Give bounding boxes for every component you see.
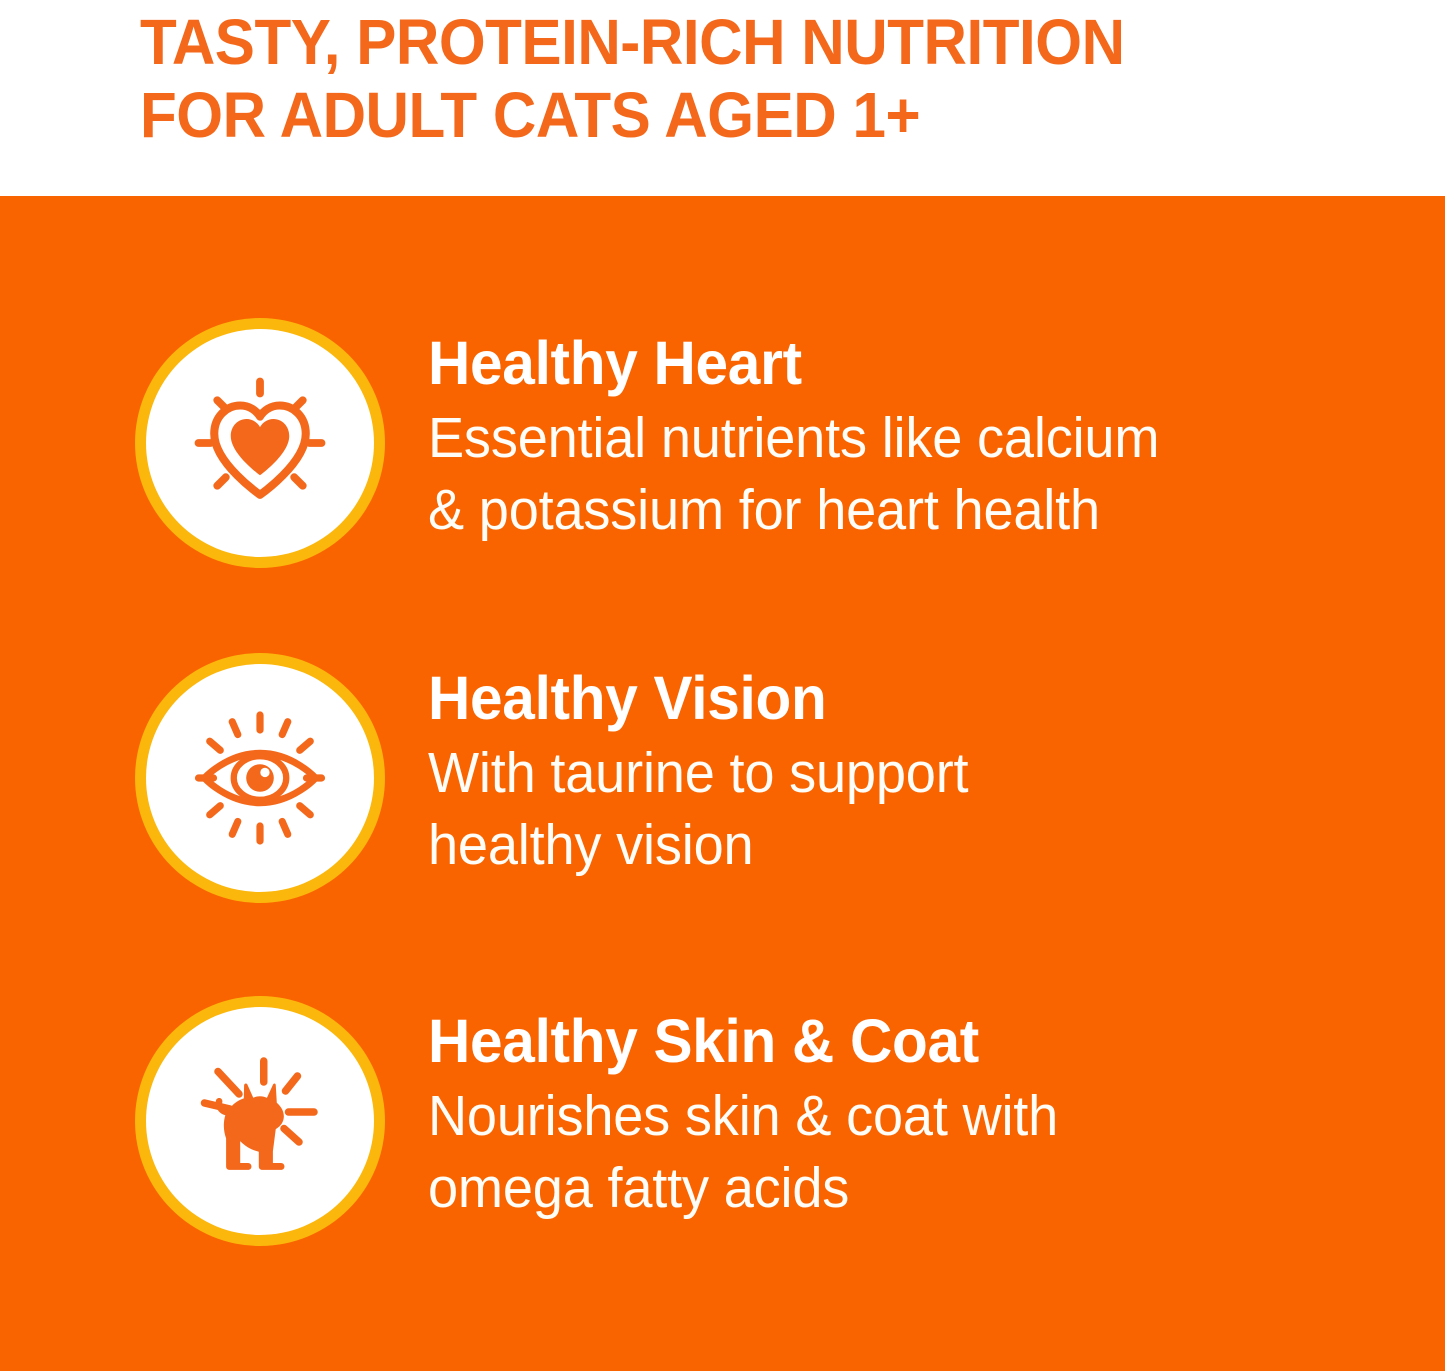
benefit-item-healthy-heart: Healthy Heart Essential nutrients like c… (0, 318, 1445, 568)
benefit-title: Healthy Heart (428, 328, 1404, 398)
benefit-copy: Healthy Vision With taurine to support h… (428, 653, 1445, 881)
benefit-copy: Healthy Heart Essential nutrients like c… (428, 318, 1445, 546)
benefit-item-healthy-skin-coat: Healthy Skin & Coat Nourishes skin & coa… (0, 996, 1445, 1246)
benefit-copy: Healthy Skin & Coat Nourishes skin & coa… (428, 996, 1445, 1224)
heart-rays-icon (185, 368, 335, 518)
benefit-description: With taurine to support healthy vision (428, 737, 1394, 881)
benefit-icon-badge (135, 318, 385, 568)
benefits-panel: Healthy Heart Essential nutrients like c… (0, 196, 1445, 1371)
benefit-description: Essential nutrients like calcium & potas… (428, 402, 1394, 546)
benefit-description: Nourishes skin & coat with omega fatty a… (428, 1080, 1394, 1224)
cat-rays-icon (185, 1046, 335, 1196)
benefit-item-healthy-vision: Healthy Vision With taurine to support h… (0, 653, 1445, 903)
benefit-title: Healthy Skin & Coat (428, 1006, 1404, 1076)
page-title: TASTY, PROTEIN-RICH NUTRITION FOR ADULT … (140, 6, 1367, 152)
product-benefits-graphic: TASTY, PROTEIN-RICH NUTRITION FOR ADULT … (0, 0, 1445, 1371)
headline-band: TASTY, PROTEIN-RICH NUTRITION FOR ADULT … (0, 0, 1445, 196)
benefit-icon-badge (135, 653, 385, 903)
benefit-title: Healthy Vision (428, 663, 1404, 733)
benefit-icon-badge (135, 996, 385, 1246)
eye-rays-icon (185, 703, 335, 853)
